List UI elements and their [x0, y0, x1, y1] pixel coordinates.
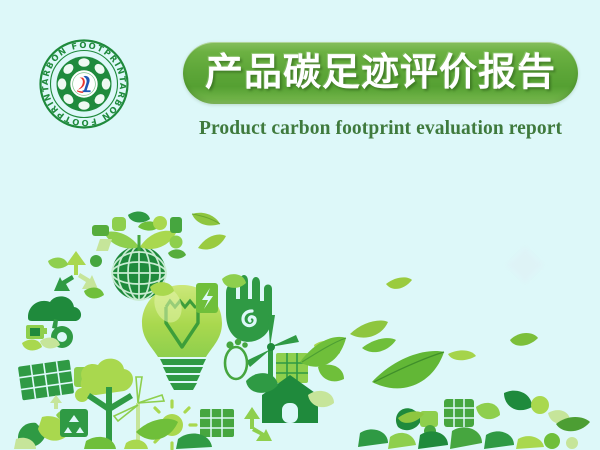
report-title-english: Product carbon footprint evaluation repo… — [183, 118, 578, 140]
battery-icon — [196, 283, 218, 313]
cloud-icon — [28, 296, 81, 321]
report-title-banner: 产品碳足迹评价报告 — [183, 42, 578, 104]
eco-icon-footprint-collage — [0, 195, 600, 450]
tree-icon — [81, 359, 133, 443]
recycle-icon — [50, 395, 62, 409]
carbon-footprint-seal-logo: CARBON FOOTPRINT · CARBON FOOTPRINT · — [38, 38, 130, 130]
solar-panel-icon — [200, 409, 234, 437]
battery-icon — [26, 325, 47, 339]
report-cover-page: CARBON FOOTPRINT · CARBON FOOTPRINT · — [0, 0, 600, 450]
cover-header: CARBON FOOTPRINT · CARBON FOOTPRINT · — [0, 0, 600, 170]
solar-panel-icon — [18, 360, 89, 402]
report-title-chinese: 产品碳足迹评价报告 — [205, 53, 556, 93]
recycle-icon — [60, 409, 88, 437]
recycle-icon — [48, 251, 104, 298]
footprint-icon — [225, 339, 248, 379]
leaf-icon — [22, 338, 60, 351]
leaf-icon — [84, 433, 212, 449]
icon-cluster-bottom-right — [358, 391, 578, 449]
